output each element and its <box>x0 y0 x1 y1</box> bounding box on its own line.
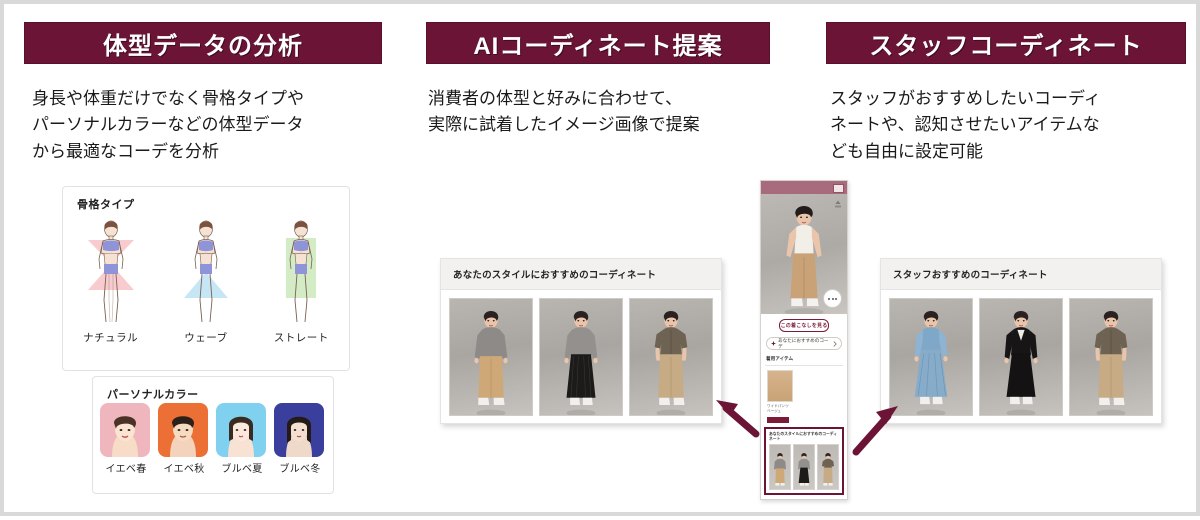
phone-mockup: この着こなしを見る あなたにおすすめのコーデ 着用アイテム ワイドパンツ ベージ… <box>760 180 848 500</box>
phone-section-label: 着用アイテム <box>766 356 847 362</box>
phone-item-thumbnail <box>767 370 793 402</box>
skeleton-label-natural: ナチュラル <box>72 330 150 345</box>
coordinate-photo[interactable] <box>449 298 533 416</box>
description-ai-coordinate: 消費者の体型と好みに合わせて、 実際に試着したイメージ画像で提案 <box>428 86 798 139</box>
model-photo-black-jacket-skirt-icon <box>980 299 1062 415</box>
card-ai-recommended-coordinates: あなたのスタイルにおすすめのコーディネート <box>440 258 722 424</box>
skeleton-item-straight: ストレート <box>262 216 340 345</box>
panel-title-personal-color: パーソナルカラー <box>107 386 199 402</box>
phone-hero-image[interactable] <box>761 194 847 314</box>
coordinate-photo[interactable] <box>629 298 713 416</box>
swatch-autumn <box>158 403 208 457</box>
personal-color-label-autumn: イエベ秋 <box>158 460 210 475</box>
phone-item-card[interactable]: ワイドパンツ ベージュ <box>767 370 793 414</box>
coordinate-photo[interactable] <box>979 298 1063 416</box>
skeleton-label-wave: ウェーブ <box>167 330 245 345</box>
infographic-page: 体型データの分析 身長や体重だけでなく骨格タイプや パーソナルカラーなどの体型デ… <box>0 0 1200 516</box>
thumb-gray-knit-black-skirt-icon <box>794 445 814 489</box>
phone-highlight-row-ai <box>769 444 839 490</box>
swatch-summer <box>216 403 266 457</box>
skeleton-label-straight: ストレート <box>262 330 340 345</box>
thumb-khaki-shirt-beige-pants-icon <box>818 445 838 489</box>
personal-color-label-summer: ブルベ夏 <box>216 460 268 475</box>
personal-color-item-autumn: イエベ秋 <box>158 403 210 475</box>
figure-natural-icon <box>76 216 146 328</box>
skeleton-figure-row: ナチュラル <box>63 215 349 345</box>
face-winter-icon <box>274 403 324 457</box>
phone-divider <box>765 365 843 366</box>
personal-color-label-spring: イエベ春 <box>100 460 152 475</box>
model-photo-blue-dress-icon <box>890 299 972 415</box>
figure-straight-icon <box>266 216 336 328</box>
phone-highlight-title-ai: あなたのスタイルにおすすめのコーディネート <box>769 432 839 442</box>
phone-item-tag <box>767 417 789 423</box>
description-body-data-analysis: 身長や体重だけでなく骨格タイプや パーソナルカラーなどの体型データ から最適なコ… <box>32 86 392 165</box>
coordinate-photo[interactable] <box>889 298 973 416</box>
phone-recommend-label: あなたにおすすめのコーデ <box>778 338 833 350</box>
face-autumn-icon <box>158 403 208 457</box>
panel-title-skeleton: 骨格タイプ <box>77 196 135 212</box>
banner-staff-coordinate: スタッフコーディネート <box>826 22 1186 64</box>
phone-badge[interactable]: この着こなしを見る <box>779 319 829 332</box>
model-photo-khaki-shirt-beige-pants-icon <box>1070 299 1152 415</box>
thumb-gray-knit-beige-pants-icon <box>770 445 790 489</box>
swatch-spring <box>100 403 150 457</box>
banner-ai-coordinate: AIコーディネート提案 <box>426 22 770 64</box>
coordinate-photo[interactable] <box>1069 298 1153 416</box>
description-staff-coordinate: スタッフがおすすめしたいコーディ ネートや、認知させたいアイテムな ども自由に設… <box>830 86 1198 165</box>
banner-body-data-analysis: 体型データの分析 <box>24 22 382 64</box>
panel-skeleton-type: 骨格タイプ <box>62 186 350 371</box>
column-body-data-analysis: 体型データの分析 身長や体重だけでなく骨格タイプや パーソナルカラーなどの体型デ… <box>4 4 404 520</box>
phone-recommend-button[interactable]: あなたにおすすめのコーデ <box>766 337 842 350</box>
phone-item-caption: ワイドパンツ ベージュ <box>767 404 793 414</box>
coordinate-photo[interactable] <box>539 298 623 416</box>
more-options-icon[interactable] <box>823 289 842 308</box>
phone-highlight-staff-section: スタッフおすすめのコーディネート <box>764 499 844 500</box>
card-photos-ai <box>441 290 721 424</box>
personal-color-item-spring: イエベ春 <box>100 403 152 475</box>
battery-icon <box>833 184 844 193</box>
personal-color-label-winter: ブルベ冬 <box>274 460 326 475</box>
model-photo-khaki-shirt-beige-pants-icon <box>630 299 712 415</box>
personal-color-item-summer: ブルベ夏 <box>216 403 268 475</box>
phone-status-bar <box>761 181 847 194</box>
face-summer-icon <box>216 403 266 457</box>
card-photos-staff <box>881 290 1161 424</box>
card-staff-recommended-coordinates: スタッフおすすめのコーディネート <box>880 258 1162 424</box>
figure-wave-icon <box>171 216 241 328</box>
personal-color-row: イエベ春 イエベ秋 <box>93 403 333 475</box>
phone-highlight-ai-section: あなたのスタイルにおすすめのコーディネート <box>764 427 844 495</box>
panel-personal-color: パーソナルカラー イエベ春 <box>92 376 334 494</box>
card-title-ai-recommended: あなたのスタイルにおすすめのコーディネート <box>441 259 721 290</box>
face-spring-icon <box>100 403 150 457</box>
personal-color-item-winter: ブルベ冬 <box>274 403 326 475</box>
phone-coordinate-thumb[interactable] <box>793 444 815 490</box>
sparkle-icon <box>771 341 776 346</box>
model-photo-gray-knit-beige-pants-icon <box>450 299 532 415</box>
phone-coordinate-thumb[interactable] <box>817 444 839 490</box>
skeleton-item-natural: ナチュラル <box>72 216 150 345</box>
chevron-right-icon <box>833 341 837 347</box>
card-title-staff-recommended: スタッフおすすめのコーディネート <box>881 259 1161 290</box>
phone-coordinate-thumb[interactable] <box>769 444 791 490</box>
skeleton-item-wave: ウェーブ <box>167 216 245 345</box>
swatch-winter <box>274 403 324 457</box>
model-photo-gray-knit-black-skirt-icon <box>540 299 622 415</box>
share-icon[interactable] <box>833 199 843 209</box>
